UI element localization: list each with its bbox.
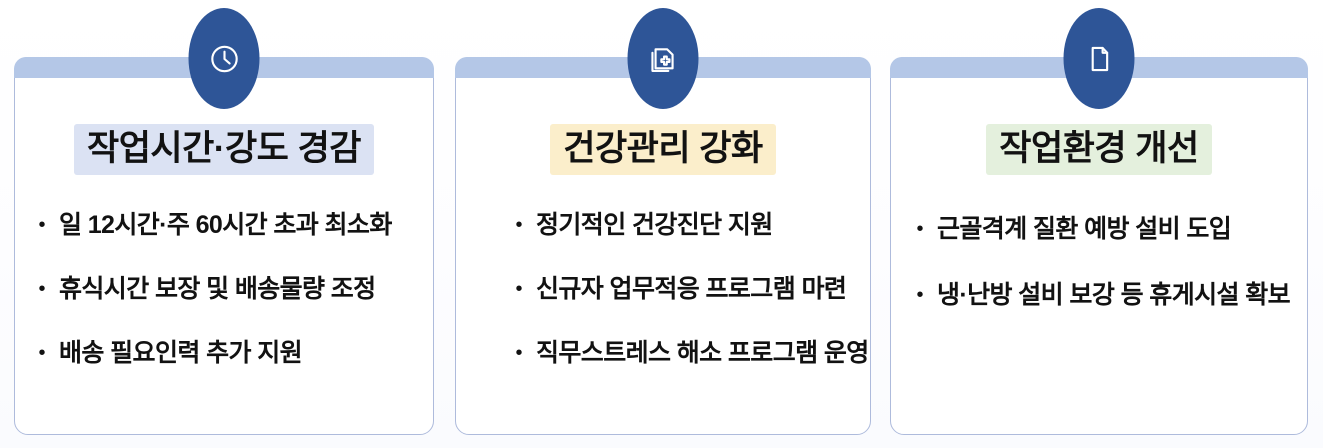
bullet-marker-icon: • (31, 210, 53, 240)
card-health-management-strengthening: 건강관리 강화 • 정기적인 건강진단 지원 • 신규자 업무적응 프로그램 마… (455, 57, 871, 435)
bullet-marker-icon: • (508, 274, 530, 304)
card-title: 건강관리 강화 (550, 124, 775, 175)
list-item-label: 일 12시간·주 60시간 초과 최소화 (53, 210, 392, 240)
list-item: • 직무스트레스 해소 프로그램 운영 (508, 338, 856, 368)
bullet-marker-icon: • (909, 280, 931, 310)
list-item-label: 직무스트레스 해소 프로그램 운영 (530, 338, 869, 368)
bullet-marker-icon: • (909, 214, 931, 244)
bullet-list: • 근골격계 질환 예방 설비 도입 • 냉·난방 설비 보강 등 휴게시설 확… (891, 214, 1307, 346)
bullet-marker-icon: • (31, 338, 53, 368)
bullet-marker-icon: • (31, 274, 53, 304)
list-item: • 정기적인 건강진단 지원 (508, 210, 856, 240)
medical-record-icon (646, 42, 680, 76)
medical-record-icon-badge (628, 8, 699, 109)
card-title: 작업환경 개선 (986, 124, 1211, 175)
bullet-marker-icon: • (508, 338, 530, 368)
bullet-list: • 정기적인 건강진단 지원 • 신규자 업무적응 프로그램 마련 • 직무스트… (456, 210, 870, 368)
card-work-environment-improvement: 작업환경 개선 • 근골격계 질환 예방 설비 도입 • 냉·난방 설비 보강 … (890, 57, 1308, 435)
list-item-label: 냉·난방 설비 보강 등 휴게시설 확보 (931, 280, 1290, 310)
card-title: 작업시간·강도 경감 (74, 124, 374, 175)
bullet-marker-icon: • (508, 210, 530, 240)
list-item: • 휴식시간 보장 및 배송물량 조정 (31, 274, 419, 304)
clock-icon-badge (189, 8, 260, 109)
list-item-label: 신규자 업무적응 프로그램 마련 (530, 274, 846, 304)
infographic-canvas: 작업시간·강도 경감 • 일 12시간·주 60시간 초과 최소화 • 휴식시간… (0, 0, 1323, 448)
document-icon-badge (1064, 8, 1135, 109)
list-item-label: 배송 필요인력 추가 지원 (53, 338, 302, 368)
card-title-row: 작업시간·강도 경감 (15, 124, 433, 175)
list-item-label: 정기적인 건강진단 지원 (530, 210, 773, 240)
card-title-row: 건강관리 강화 (456, 124, 870, 175)
list-item: • 배송 필요인력 추가 지원 (31, 338, 419, 368)
document-icon (1082, 42, 1116, 76)
list-item: • 근골격계 질환 예방 설비 도입 (909, 214, 1293, 244)
list-item: • 냉·난방 설비 보강 등 휴게시설 확보 (909, 280, 1293, 310)
list-item-label: 근골격계 질환 예방 설비 도입 (931, 214, 1231, 244)
card-title-row: 작업환경 개선 (891, 124, 1307, 175)
card-work-hours-intensity-reduction: 작업시간·강도 경감 • 일 12시간·주 60시간 초과 최소화 • 휴식시간… (14, 57, 434, 435)
list-item-label: 휴식시간 보장 및 배송물량 조정 (53, 274, 376, 304)
list-item: • 신규자 업무적응 프로그램 마련 (508, 274, 856, 304)
bullet-list: • 일 12시간·주 60시간 초과 최소화 • 휴식시간 보장 및 배송물량 … (15, 210, 433, 368)
list-item: • 일 12시간·주 60시간 초과 최소화 (31, 210, 419, 240)
clock-icon (207, 42, 241, 76)
